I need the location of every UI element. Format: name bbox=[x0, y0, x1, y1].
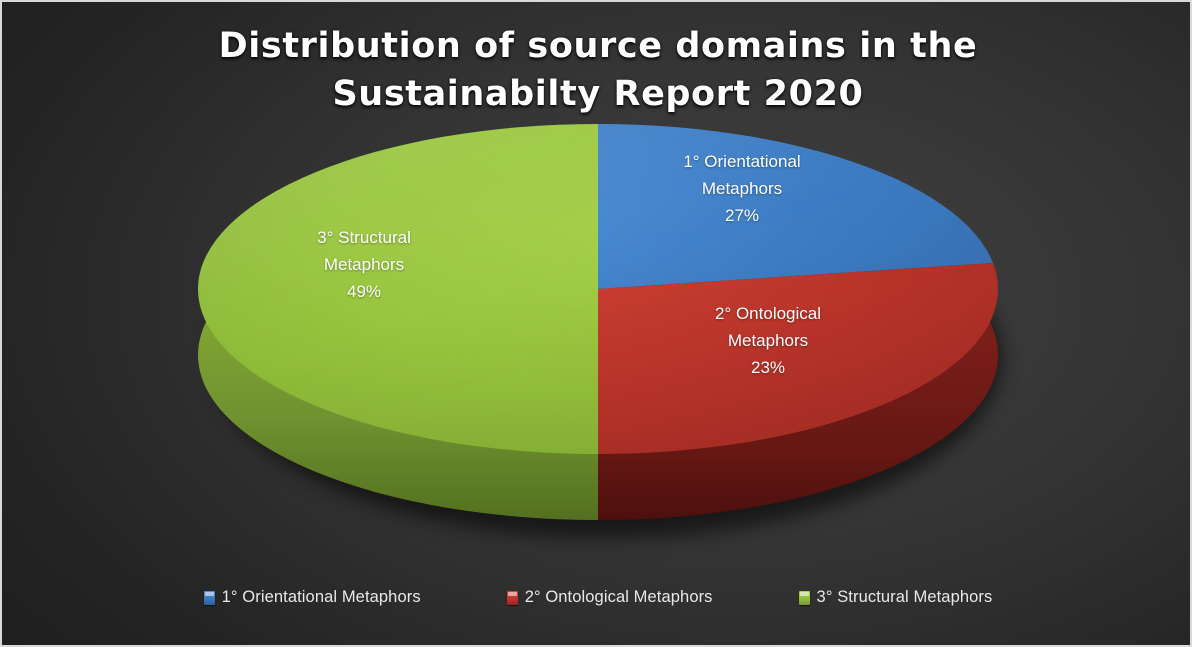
chart-title: Distribution of source domains in the Su… bbox=[2, 22, 1192, 118]
legend-item-structural[interactable]: 3° Structural Metaphors bbox=[799, 588, 993, 607]
chart-frame: Distribution of source domains in the Su… bbox=[0, 0, 1192, 647]
data-label-ontological: 2° Ontological Metaphors 23% bbox=[628, 300, 908, 381]
legend-label-orientational: 1° Orientational Metaphors bbox=[222, 588, 421, 607]
legend-swatch-icon-red bbox=[507, 591, 518, 605]
legend-item-ontological[interactable]: 2° Ontological Metaphors bbox=[507, 588, 713, 607]
legend-label-structural: 3° Structural Metaphors bbox=[817, 588, 993, 607]
legend-label-ontological: 2° Ontological Metaphors bbox=[525, 588, 713, 607]
legend-item-orientational[interactable]: 1° Orientational Metaphors bbox=[204, 588, 421, 607]
legend-swatch-icon-green bbox=[799, 591, 810, 605]
chart-legend: 1° Orientational Metaphors 2° Ontologica… bbox=[2, 588, 1192, 607]
data-label-orientational: 1° Orientational Metaphors 27% bbox=[602, 148, 882, 229]
data-label-structural: 3° Structural Metaphors 49% bbox=[224, 224, 504, 305]
legend-swatch-icon-blue bbox=[204, 591, 215, 605]
